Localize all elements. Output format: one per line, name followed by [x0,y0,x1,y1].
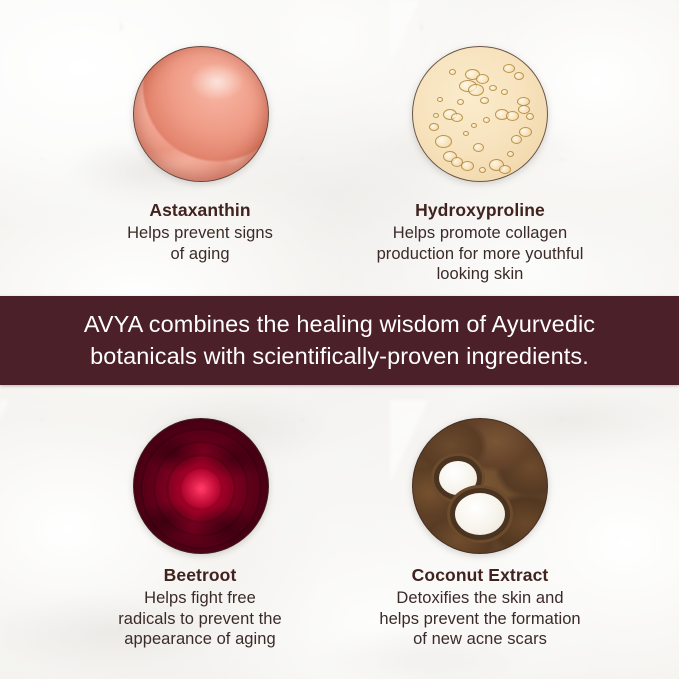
oil-bubble [489,85,497,91]
oil-bubble [499,165,511,174]
oil-bubble [429,123,439,131]
coconut-half-lower [455,493,505,535]
coconut-extract-description-line-1: Detoxifies the skin and [315,588,645,609]
oil-bubble [483,117,490,123]
oil-bubble [435,135,452,148]
oil-bubble [457,99,464,105]
hydroxyproline-image-circle [412,46,548,182]
coconut-extract-description-line-2: helps prevent the formation [315,609,645,630]
tagline-line-2: botanicals with scientifically-proven in… [84,341,595,373]
tagline-text: AVYA combines the healing wisdom of Ayur… [66,309,613,373]
oil-bubble [461,161,474,171]
oil-bubble [501,89,508,95]
oil-bubble [506,111,519,121]
oil-bubble [468,84,484,96]
coconut-extract-description-line-3: of new acne scars [315,629,645,650]
coconut-half-upper [439,461,477,495]
oil-bubble [471,123,477,128]
oil-bubble [514,72,524,80]
hydroxyproline-description-line-2: production for more youthful [315,244,645,265]
ingredient-benefits-infographic: Astaxanthin Helps prevent signs of aging [0,0,679,679]
oil-bubble [433,113,439,118]
oil-bubble [476,74,489,84]
oil-bubble [503,64,515,73]
oil-bubble [507,151,514,157]
coconut-extract-title: Coconut Extract [315,565,645,587]
oil-bubble [473,143,484,152]
astaxanthin-image-circle [133,46,269,182]
beetroot-image-circle [133,418,269,554]
tagline-banner: AVYA combines the healing wisdom of Ayur… [0,296,679,385]
oil-bubble [437,97,443,102]
astaxanthin-inner-shading [134,47,268,181]
coconut-image-circle [412,418,548,554]
oil-bubble [479,167,486,173]
hydroxyproline-description-line-3: looking skin [315,264,645,285]
oil-bubble [511,135,522,144]
hydroxyproline-caption: Hydroxyproline Helps promote collagen pr… [315,200,645,285]
beetroot-core-glow [134,419,268,553]
oil-bubble [449,69,456,75]
hydroxyproline-title: Hydroxyproline [315,200,645,222]
tagline-line-1: AVYA combines the healing wisdom of Ayur… [84,309,595,341]
oil-bubble [451,113,463,122]
hydroxyproline-description-line-1: Helps promote collagen [315,223,645,244]
coconut-extract-caption: Coconut Extract Detoxifies the skin and … [315,565,645,650]
oil-bubble [480,97,489,104]
oil-bubble [526,113,534,120]
oil-bubble [463,131,469,136]
oil-bubble [519,127,532,137]
